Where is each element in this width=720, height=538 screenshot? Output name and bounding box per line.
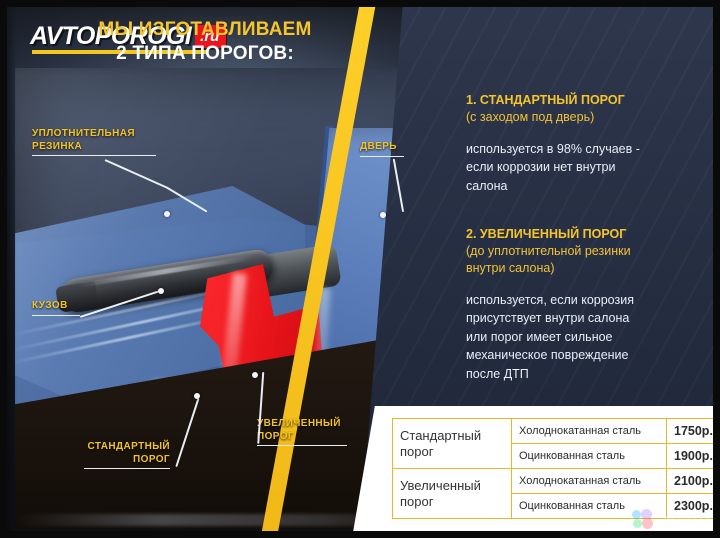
section-2-subtitle: (до уплотнительной резинки внутри салона… [466,243,716,277]
section-2-body: используется, если коррозия присутствует… [466,291,716,384]
headline: МЫ ИЗГОТАВЛИВАЕМ 2 ТИПА ПОРОГОВ: [60,18,350,67]
section-1-title: 1. СТАНДАРТНЫЙ ПОРОГ [466,92,716,109]
table-row: Увеличенный порог Холоднокатанная сталь … [393,469,720,494]
section-2-title: 2. УВЕЛИЧЕННЫЙ ПОРОГ [466,226,716,243]
section-enlarged-sill: 2. УВЕЛИЧЕННЫЙ ПОРОГ (до уплотнительной … [466,226,716,383]
callout-dot-standard-sill [194,393,200,399]
callout-dot-seal [164,211,170,217]
section-1-subtitle: (с заходом под дверь) [466,109,716,126]
callout-label-door: ДВЕРЬ [360,141,404,157]
price-value: 2100р. [667,469,720,494]
price-value: 1900р. [667,444,720,469]
callout-label-seal: УПЛОТНИТЕЛЬНАЯ РЕЗИНКА [32,128,156,156]
headline-line-2: 2 ТИПА ПОРОГОВ: [60,42,350,66]
callout-label-enlarged-sill: УВЕЛИЧЕННЫЙ ПОРОГ [257,418,347,446]
price-type-enlarged: Увеличенный порог [393,469,512,519]
table-row: Стандартный порог Холоднокатанная сталь … [393,419,720,444]
price-material: Оцинкованная сталь [512,494,667,519]
headline-line-1: МЫ ИЗГОТАВЛИВАЕМ [60,18,350,42]
price-material: Холоднокатанная сталь [512,419,667,444]
callout-label-standard-sill: СТАНДАРТНЫЙ ПОРОГ [84,441,170,469]
price-value: 1750р. [667,419,720,444]
callout-dot-door [380,212,386,218]
price-table: Стандартный порог Холоднокатанная сталь … [392,418,720,519]
price-value: 2300р. [667,494,720,519]
banner-root: УПЛОТНИТЕЛЬНАЯ РЕЗИНКА ДВЕРЬ КУЗОВ СТАНД… [0,0,720,538]
price-material: Оцинкованная сталь [512,444,667,469]
callout-dot-enlarged-sill [252,372,258,378]
price-type-standard: Стандартный порог [393,419,512,469]
section-1-body: используется в 98% случаев - если корроз… [466,140,716,196]
price-material: Холоднокатанная сталь [512,469,667,494]
callout-label-body: КУЗОВ [32,300,80,316]
section-standard-sill: 1. СТАНДАРТНЫЙ ПОРОГ (с заходом под двер… [466,92,716,195]
callout-dot-body [158,288,164,294]
